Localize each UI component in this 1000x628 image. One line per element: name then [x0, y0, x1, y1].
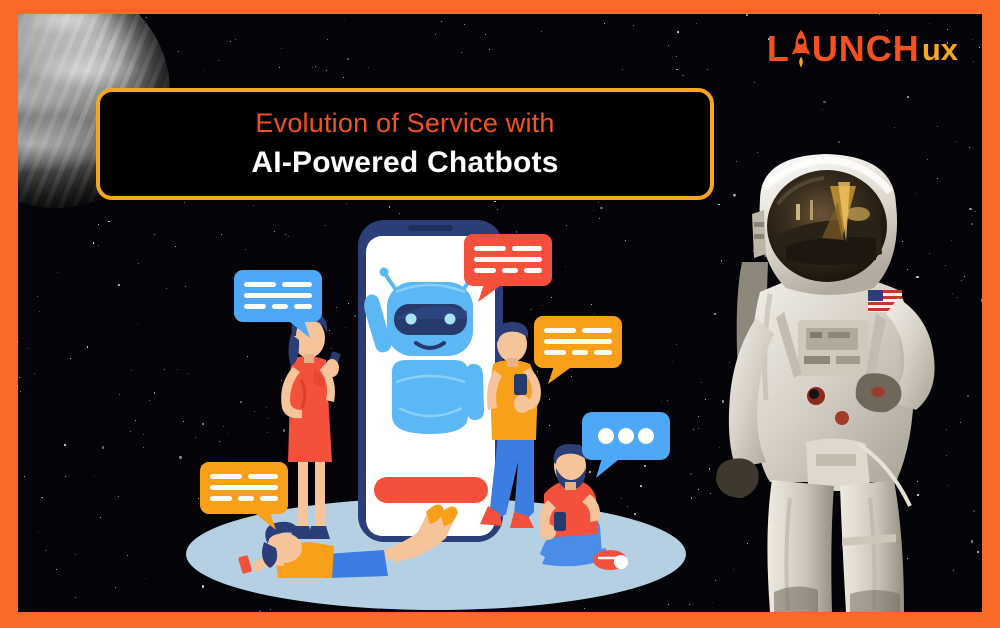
- launchux-logo[interactable]: L UNCH ux: [767, 28, 958, 70]
- phone-cta-button: [374, 477, 488, 503]
- logo-letter-l: L: [767, 31, 790, 67]
- banner-root: L UNCH ux Evolution of Service with AI-P…: [0, 0, 1000, 628]
- page-title: AI-Powered Chatbots: [251, 146, 558, 180]
- chat-bubble-blue-dots: [582, 412, 670, 478]
- rocket-icon: [791, 28, 811, 70]
- person-man-sitting-red-shirt: [539, 444, 628, 570]
- title-card: Evolution of Service with AI-Powered Cha…: [96, 88, 714, 200]
- chat-bubble-orange-right: [534, 316, 622, 384]
- logo-letters-unch: UNCH: [812, 31, 920, 67]
- title-subtitle: Evolution of Service with: [255, 108, 554, 139]
- astronaut-photo: [690, 142, 980, 612]
- ai-chatbot-scene: [178, 212, 698, 612]
- logo-letters-ux: ux: [922, 34, 958, 65]
- space-background: L UNCH ux Evolution of Service with AI-P…: [18, 14, 982, 612]
